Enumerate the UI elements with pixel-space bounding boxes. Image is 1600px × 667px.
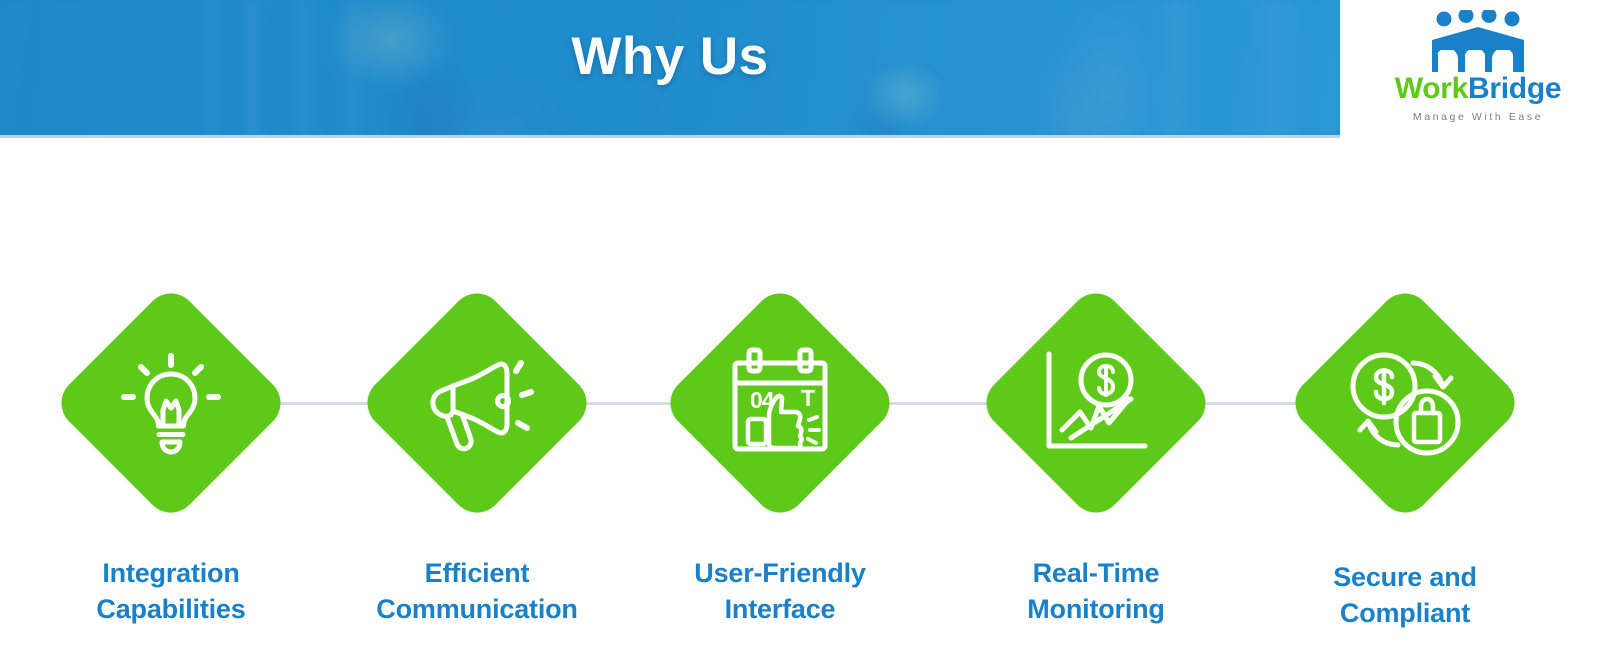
label-line-2: Communication xyxy=(327,592,627,628)
page-title: Why Us xyxy=(0,28,1340,86)
lightbulb-icon xyxy=(54,286,288,520)
banner-bottom-edge xyxy=(0,135,1340,138)
feature-label-integration-capabilities: Integration Capabilities xyxy=(21,556,321,627)
label-line-2: Monitoring xyxy=(946,592,1246,628)
connector-line-3 xyxy=(888,402,992,405)
connector-line-4 xyxy=(1202,402,1302,405)
label-line-1: Real-Time xyxy=(946,556,1246,592)
feature-node-efficient-communication[interactable] xyxy=(360,286,594,520)
label-line-1: Integration xyxy=(21,556,321,592)
chart-dollar-icon xyxy=(979,286,1213,520)
bridge-with-people-icon xyxy=(1388,10,1568,72)
label-line-2: Interface xyxy=(630,592,930,628)
logo-word-work: Work xyxy=(1395,72,1468,105)
feature-label-user-friendly-interface: User-Friendly Interface xyxy=(630,556,930,627)
megaphone-icon xyxy=(360,286,594,520)
label-line-1: Efficient xyxy=(327,556,627,592)
svg-text:T: T xyxy=(801,385,815,411)
logo-word-bridge: Bridge xyxy=(1468,72,1561,105)
feature-node-secure-and-compliant[interactable] xyxy=(1288,286,1522,520)
logo-tagline: Manage With Ease xyxy=(1388,111,1568,123)
label-line-1: User-Friendly xyxy=(630,556,930,592)
label-line-1: Secure and xyxy=(1255,560,1555,596)
label-line-2: Capabilities xyxy=(21,592,321,628)
header-banner: Why Us xyxy=(0,0,1340,138)
brand-logo[interactable]: WorkBridge Manage With Ease xyxy=(1388,10,1568,123)
feature-node-user-friendly-interface[interactable]: 04 T xyxy=(663,286,897,520)
logo-wordmark: WorkBridge xyxy=(1388,74,1568,104)
feature-label-real-time-monitoring: Real-Time Monitoring xyxy=(946,556,1246,627)
label-line-2: Compliant xyxy=(1255,596,1555,632)
feature-node-integration-capabilities[interactable] xyxy=(54,286,288,520)
calendar-thumbs-up-icon: 04 T xyxy=(663,286,897,520)
feature-node-real-time-monitoring[interactable] xyxy=(979,286,1213,520)
money-exchange-bag-icon xyxy=(1288,286,1522,520)
feature-label-secure-and-compliant: Secure and Compliant xyxy=(1255,560,1555,631)
feature-label-efficient-communication: Efficient Communication xyxy=(327,556,627,627)
